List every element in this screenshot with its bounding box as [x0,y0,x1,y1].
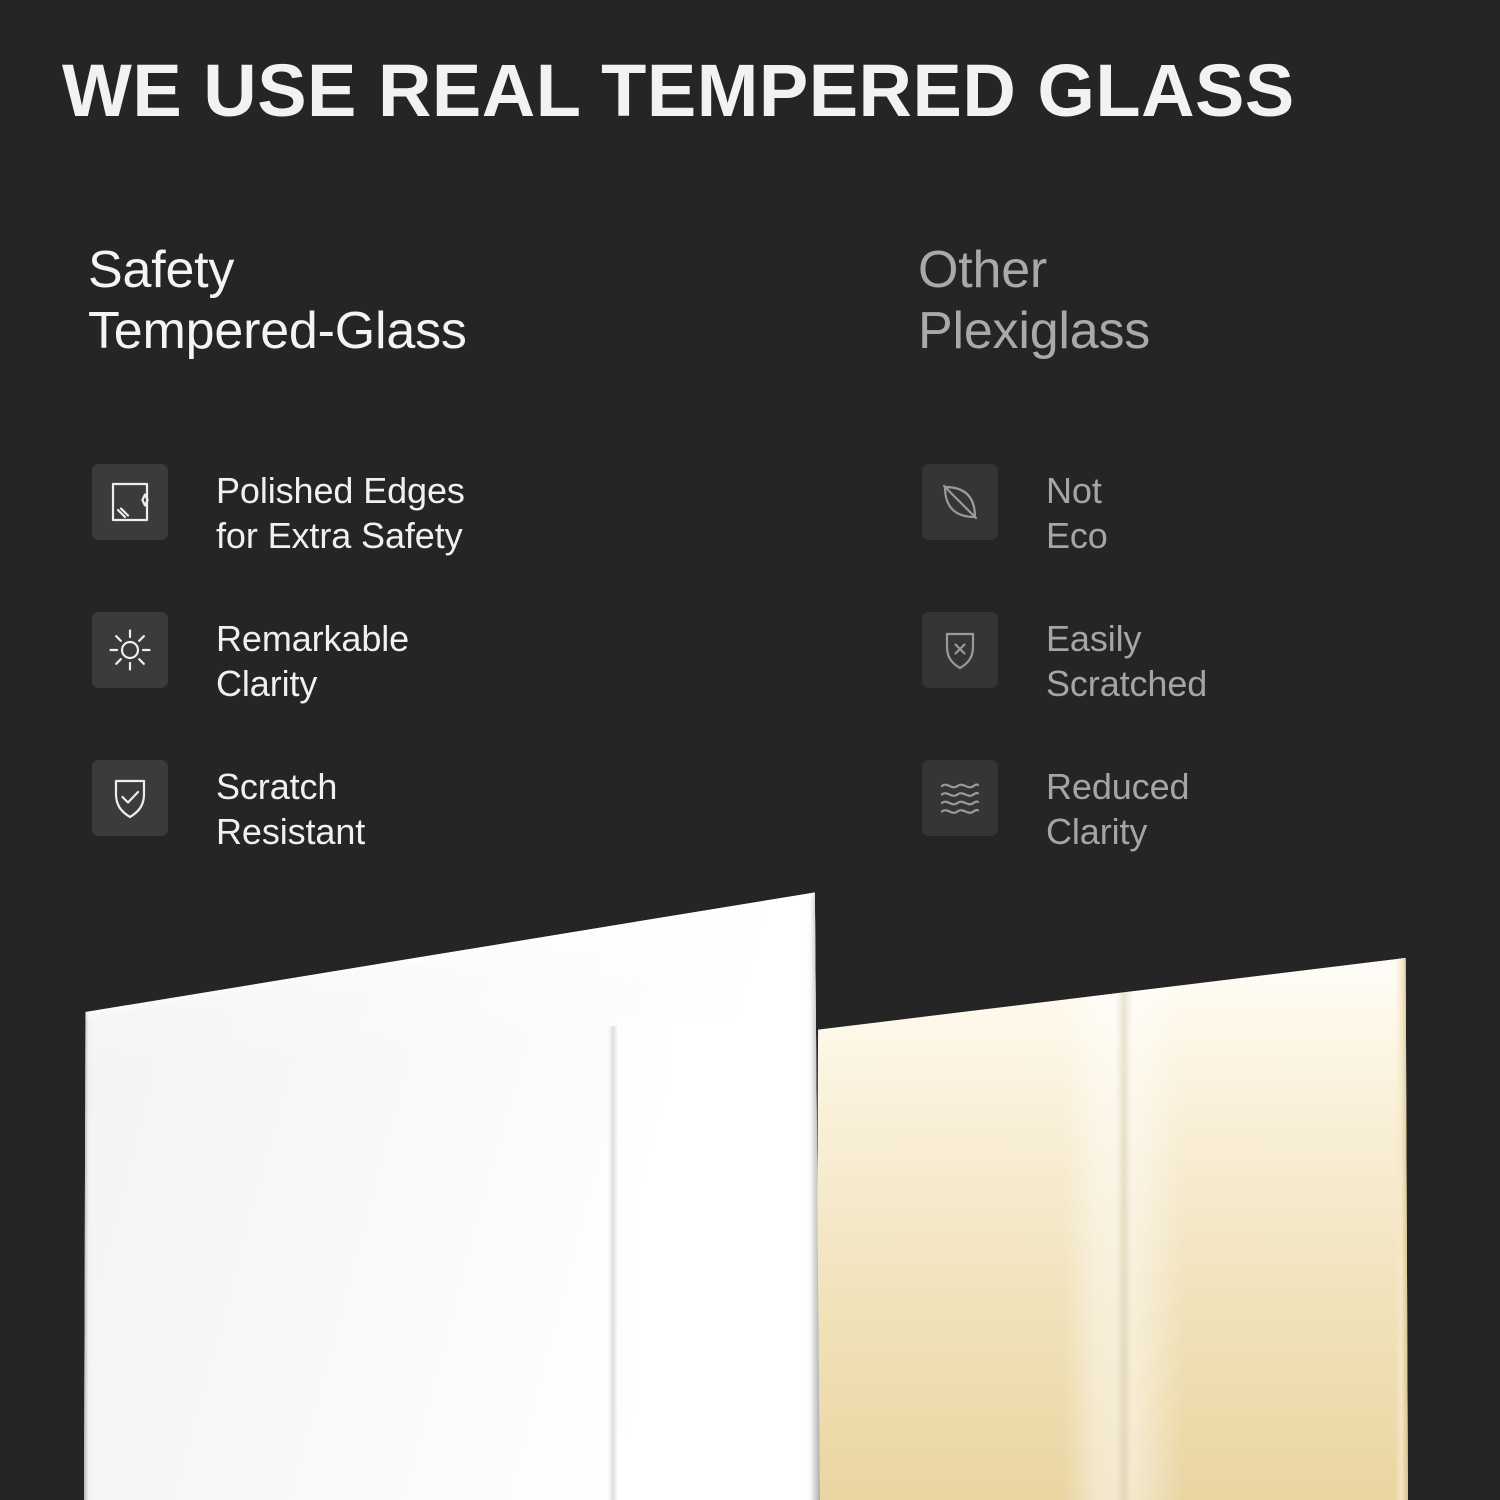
feature-label: Reduced Clarity [1046,765,1189,854]
header-bar: WE USE REAL TEMPERED GLASS [0,0,1500,175]
page-title: WE USE REAL TEMPERED GLASS [62,48,1295,133]
feature-easily-scratched: Easily Scratched [922,612,1500,760]
glass-reflection-line [608,1026,618,1500]
wavy-lines-distortion-icon [922,760,998,836]
feature-label: Remarkable Clarity [216,617,409,706]
leaf-crossed-out-icon [922,464,998,540]
plexiglass-reflection-band [1062,940,1184,1500]
comparison-columns: Safety Tempered-Glass Polished Edges for… [0,240,1500,880]
shield-check-icon [92,760,168,836]
tempered-glass-panel [84,890,820,1500]
polished-glass-sparkle-icon [92,464,168,540]
shield-x-icon [922,612,998,688]
feature-remarkable-clarity: Remarkable Clarity [92,612,712,760]
feature-label: Easily Scratched [1046,617,1207,706]
feature-label: Scratch Resistant [216,765,365,854]
feature-list-plexiglass: Not Eco Easily Scratched [922,464,1500,908]
product-image-stage [0,880,1500,1500]
glass-top-bevel [84,890,820,1500]
plexiglass-panel [816,940,1408,1500]
plexiglass-right-edge [1395,940,1408,1500]
feature-label: Not Eco [1046,469,1108,558]
feature-not-eco: Not Eco [922,464,1500,612]
column-heading-tempered-glass: Safety Tempered-Glass [88,240,728,363]
column-tempered-glass: Safety Tempered-Glass Polished Edges for… [88,240,728,363]
feature-polished-edges: Polished Edges for Extra Safety [92,464,712,612]
glass-left-edge [84,890,93,1500]
feature-label: Polished Edges for Extra Safety [216,469,465,558]
glass-reflection-band [596,1018,792,1500]
column-heading-plexiglass: Other Plexiglass [918,240,1500,363]
sun-brightness-icon [92,612,168,688]
column-plexiglass: Other Plexiglass Not Eco [918,240,1500,363]
plexiglass-top-bevel [816,940,1408,1500]
feature-list-tempered-glass: Polished Edges for Extra Safety [92,464,712,908]
plexiglass-reflection-line [1116,940,1132,1500]
